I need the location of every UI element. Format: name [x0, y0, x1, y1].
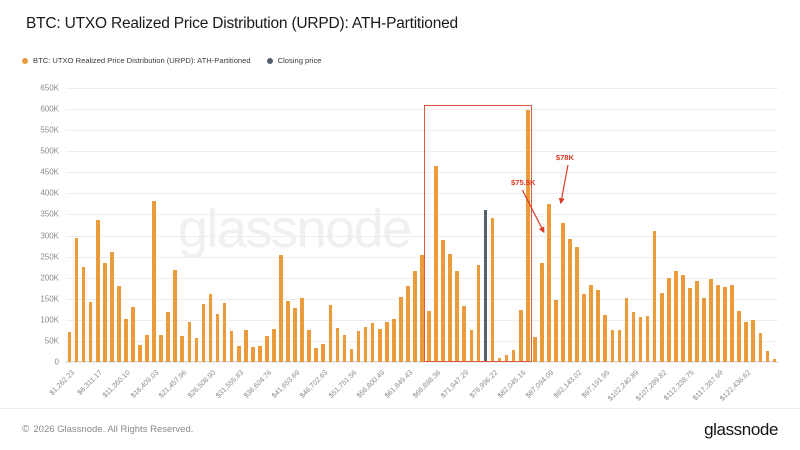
footer-divider	[0, 408, 800, 409]
realized-price-annotation: $75.5K	[511, 178, 536, 187]
y-axis-tick-label: 500K	[40, 147, 59, 156]
chart-legend: BTC: UTXO Realized Price Distribution (U…	[22, 56, 322, 65]
x-axis-labels: $1,262.23$6,311.17$11,360.10$16,409.03$2…	[66, 366, 778, 422]
y-axis-tick-label: 300K	[40, 231, 59, 240]
x-axis-tick-label: $1,262.23	[47, 368, 76, 397]
legend-label-closing-price: Closing price	[278, 56, 322, 65]
x-axis-tick-label: $36,604.76	[241, 368, 273, 400]
chart-page: BTC: UTXO Realized Price Distribution (U…	[0, 0, 800, 450]
y-axis-tick-label: 50K	[45, 336, 59, 345]
x-axis-tick-label: $66,898.36	[411, 368, 443, 400]
page-title: BTC: UTXO Realized Price Distribution (U…	[26, 15, 458, 33]
y-axis-tick-label: 200K	[40, 273, 59, 282]
y-axis-tick-label: 100K	[40, 315, 59, 324]
x-axis-tick-label: $51,751.56	[326, 368, 358, 400]
y-axis-tick-label: 550K	[40, 126, 59, 135]
gridline	[66, 362, 778, 363]
y-axis-tick-label: 0	[55, 358, 59, 367]
x-axis-tick-label: $92,143.02	[552, 368, 584, 400]
plot-area: 050K100K150K200K250K300K350K400K450K500K…	[66, 88, 778, 362]
x-axis-tick-label: $11,360.10	[101, 368, 132, 399]
copyright-text: 2026 Glassnode. All Rights Reserved.	[33, 424, 193, 435]
closing-price-annotation: $78K	[556, 153, 574, 162]
x-axis-tick-label: $26,506.90	[185, 368, 217, 400]
legend-label-urpd: BTC: UTXO Realized Price Distribution (U…	[33, 56, 251, 65]
y-axis-tick-label: 600K	[40, 105, 59, 114]
y-axis-tick-label: 450K	[40, 168, 59, 177]
x-axis-tick-label: $56,800.49	[354, 368, 386, 400]
x-axis-tick-label: $16,409.03	[129, 368, 161, 400]
y-axis-tick-label: 400K	[40, 189, 59, 198]
legend-color-swatch-urpd	[22, 58, 28, 64]
legend-color-swatch-closing-price	[267, 58, 273, 64]
copyright-icon: ©	[22, 424, 29, 435]
y-axis-tick-label: 350K	[40, 210, 59, 219]
legend-item-urpd[interactable]: BTC: UTXO Realized Price Distribution (U…	[22, 56, 251, 65]
x-axis-tick-label: $61,849.43	[382, 368, 414, 400]
x-axis-tick-label: $76,996.22	[467, 368, 499, 400]
x-axis-tick-label: $41,653.69	[270, 368, 302, 400]
x-axis-tick-label: $71,947.29	[439, 368, 471, 400]
x-axis-tick-label: $46,702.63	[298, 368, 330, 400]
annotation-arrows	[66, 88, 778, 362]
x-axis-tick-label: $87,094.09	[523, 368, 555, 400]
copyright-notice: © 2026 Glassnode. All Rights Reserved.	[22, 424, 193, 435]
glassnode-logo: glassnode	[704, 420, 778, 440]
legend-item-closing-price[interactable]: Closing price	[267, 56, 322, 65]
y-axis-tick-label: 150K	[40, 294, 59, 303]
y-axis-tick-label: 650K	[40, 84, 59, 93]
x-axis-tick-label: $21,457.96	[157, 368, 189, 400]
x-axis-tick-label: $31,555.83	[213, 368, 245, 400]
x-axis-tick-label: $82,045.16	[495, 368, 527, 400]
y-axis-tick-label: 250K	[40, 252, 59, 261]
